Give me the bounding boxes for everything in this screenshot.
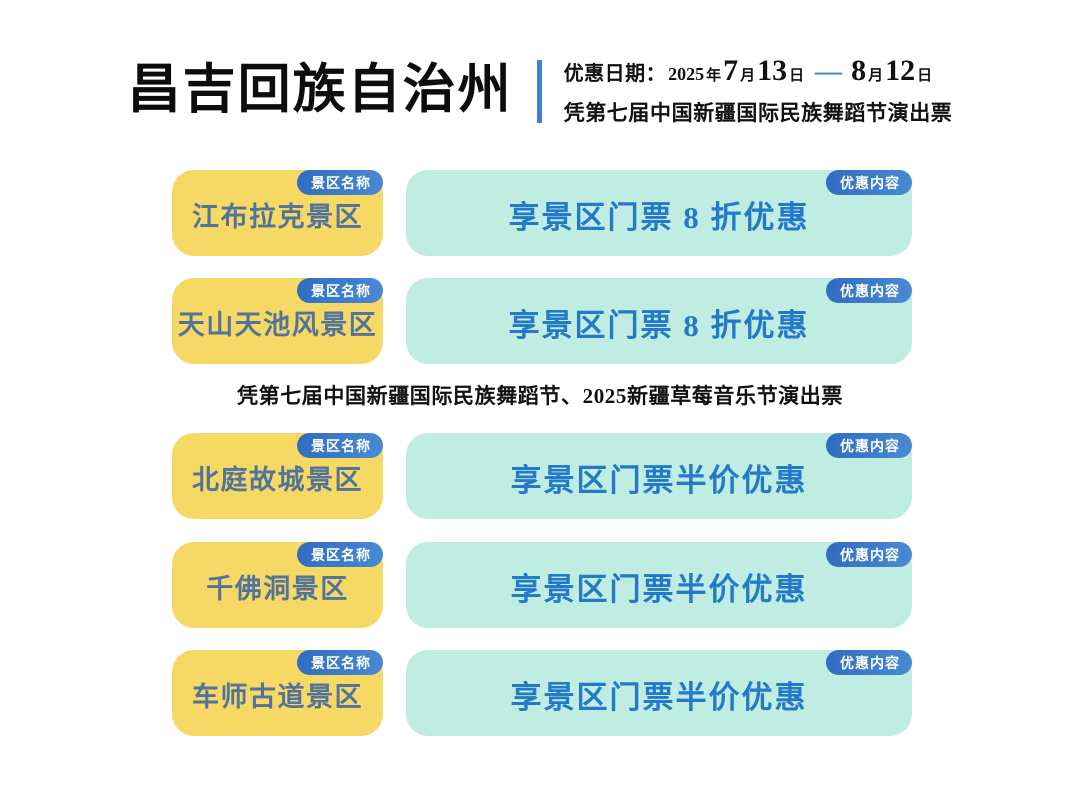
scenic-area-badge-label: 景区名称 <box>311 548 371 562</box>
scenic-area-badge: 景区名称 <box>297 170 383 195</box>
table-row: 江布拉克景区景区名称享景区门票 8 折优惠优惠内容 <box>172 170 912 256</box>
offer-card[interactable]: 享景区门票半价优惠优惠内容 <box>406 542 912 628</box>
table-row: 车师古道景区景区名称享景区门票半价优惠优惠内容 <box>172 650 912 736</box>
ticket-condition-note: 凭第七届中国新疆国际民族舞蹈节演出票 <box>564 97 953 127</box>
offer-card[interactable]: 享景区门票 8 折优惠优惠内容 <box>406 170 912 256</box>
promo-date-label: 优惠日期： <box>564 57 667 86</box>
offer-badge: 优惠内容 <box>826 433 912 458</box>
promo-date-line: 优惠日期： 2025 年 7 月 13 日 — 8 月 12 日 <box>564 54 953 88</box>
offer-card[interactable]: 享景区门票半价优惠优惠内容 <box>406 650 912 736</box>
offer-badge-label: 优惠内容 <box>840 656 900 670</box>
month-unit-end: 月 <box>868 64 883 85</box>
end-day: 12 <box>885 54 915 88</box>
scenic-area-name: 天山天池风景区 <box>178 304 378 339</box>
scenic-area-card[interactable]: 车师古道景区景区名称 <box>172 650 383 736</box>
offer-description: 享景区门票半价优惠 <box>511 566 808 605</box>
year-unit: 年 <box>706 64 721 85</box>
scenic-area-card[interactable]: 千佛洞景区景区名称 <box>172 542 383 628</box>
table-row: 北庭故城景区景区名称享景区门票半价优惠优惠内容 <box>172 433 912 519</box>
offer-badge-label: 优惠内容 <box>840 176 900 190</box>
scenic-area-name: 江布拉克景区 <box>192 196 363 231</box>
offer-description: 享景区门票半价优惠 <box>511 457 808 496</box>
offer-badge: 优惠内容 <box>826 170 912 195</box>
scenic-area-name: 北庭故城景区 <box>192 459 363 494</box>
promo-year: 2025 <box>668 64 704 85</box>
offer-badge: 优惠内容 <box>826 542 912 567</box>
scenic-area-badge-label: 景区名称 <box>311 656 371 670</box>
offer-badge-label: 优惠内容 <box>840 548 900 562</box>
offer-badge: 优惠内容 <box>826 278 912 303</box>
scenic-area-name: 千佛洞景区 <box>206 568 349 603</box>
scenic-area-badge: 景区名称 <box>297 542 383 567</box>
date-range-dash: — <box>815 56 842 87</box>
header-detail-block: 优惠日期： 2025 年 7 月 13 日 — 8 月 12 日 凭第七届中国新… <box>542 54 953 127</box>
scenic-area-card[interactable]: 江布拉克景区景区名称 <box>172 170 383 256</box>
header-inner: 昌吉回族自治州 优惠日期： 2025 年 7 月 13 日 — 8 月 12 日… <box>128 54 953 127</box>
page-title: 昌吉回族自治州 <box>128 54 537 127</box>
offer-badge: 优惠内容 <box>826 650 912 675</box>
day-unit-start: 日 <box>789 64 804 85</box>
offer-badge-label: 优惠内容 <box>840 284 900 298</box>
start-month: 7 <box>723 54 738 88</box>
offer-card[interactable]: 享景区门票半价优惠优惠内容 <box>406 433 912 519</box>
scenic-area-badge: 景区名称 <box>297 278 383 303</box>
end-month: 8 <box>851 54 866 88</box>
table-row: 千佛洞景区景区名称享景区门票半价优惠优惠内容 <box>172 542 912 628</box>
page-header: 昌吉回族自治州 优惠日期： 2025 年 7 月 13 日 — 8 月 12 日… <box>0 40 1080 140</box>
group-separator-note: 凭第七届中国新疆国际民族舞蹈节、2025新疆草莓音乐节演出票 <box>0 380 1080 410</box>
offer-description: 享景区门票 8 折优惠 <box>509 194 810 233</box>
month-unit-start: 月 <box>740 64 755 85</box>
offer-description: 享景区门票半价优惠 <box>511 674 808 713</box>
scenic-area-badge-label: 景区名称 <box>311 176 371 190</box>
scenic-area-card[interactable]: 天山天池风景区景区名称 <box>172 278 383 364</box>
scenic-area-name: 车师古道景区 <box>192 676 363 711</box>
scenic-area-badge-label: 景区名称 <box>311 284 371 298</box>
scenic-area-badge: 景区名称 <box>297 650 383 675</box>
scenic-area-badge: 景区名称 <box>297 433 383 458</box>
offer-badge-label: 优惠内容 <box>840 439 900 453</box>
offer-description: 享景区门票 8 折优惠 <box>509 302 810 341</box>
start-day: 13 <box>757 54 787 88</box>
offer-card[interactable]: 享景区门票 8 折优惠优惠内容 <box>406 278 912 364</box>
day-unit-end: 日 <box>917 64 932 85</box>
table-row: 天山天池风景区景区名称享景区门票 8 折优惠优惠内容 <box>172 278 912 364</box>
scenic-area-badge-label: 景区名称 <box>311 439 371 453</box>
scenic-area-card[interactable]: 北庭故城景区景区名称 <box>172 433 383 519</box>
